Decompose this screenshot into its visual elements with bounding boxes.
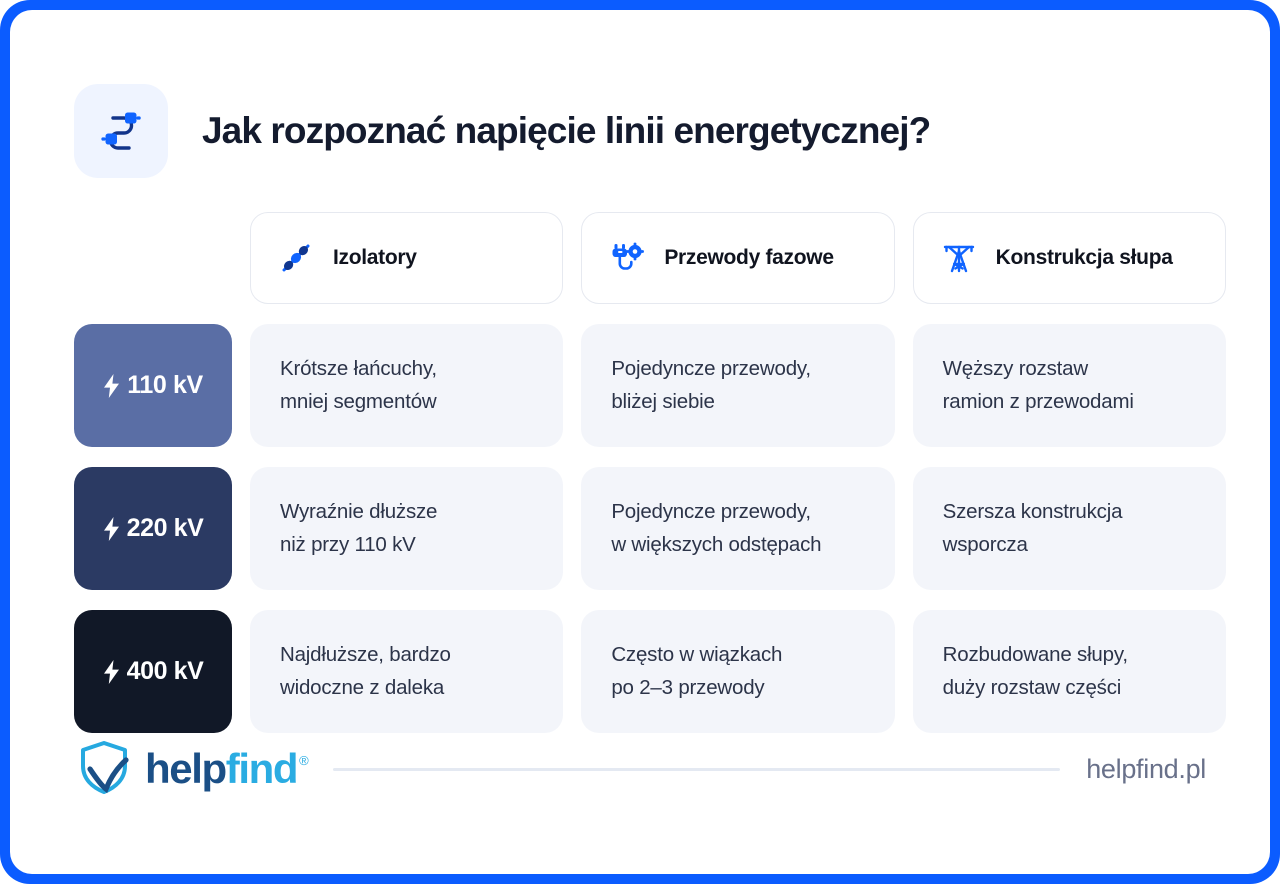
column-header-przewody-fazowe: Przewody fazowe: [581, 212, 894, 304]
voltage-row-400kv: 400 kV Najdłuższe, bardzo widoczne z dal…: [74, 610, 1226, 733]
voltage-badge-220kv: 220 kV: [74, 467, 232, 590]
table-cell: Często w wiązkach po 2–3 przewody: [581, 610, 894, 733]
cell-line-1: Szersza konstrukcja: [943, 499, 1196, 525]
lightning-bolt-icon: [103, 517, 120, 541]
helpfind-logo[interactable]: helpfind®: [74, 737, 307, 802]
logo-text-find: find: [226, 745, 297, 793]
cell-line-1: Wyraźnie dłuższe: [280, 499, 533, 525]
plug-gear-icon: [608, 239, 646, 277]
column-header-izolatory: Izolatory: [250, 212, 563, 304]
insulator-icon: [277, 239, 315, 277]
cell-line-1: Często w wiązkach: [611, 642, 864, 668]
badge-400kv-inner: 400 kV: [74, 610, 232, 733]
footer-divider: [333, 768, 1060, 771]
grid-corner-spacer: [74, 212, 232, 304]
cell-line-2: mniej segmentów: [280, 389, 533, 415]
cable-plug-icon: [96, 104, 146, 159]
shield-check-icon: [74, 737, 134, 802]
header: Jak rozpoznać napięcie linii energetyczn…: [74, 84, 930, 178]
cell-line-2: niż przy 110 kV: [280, 532, 533, 558]
cell-line-1: Pojedyncze przewody,: [611, 499, 864, 525]
cell-line-1: Krótsze łańcuchy,: [280, 356, 533, 382]
transmission-tower-icon: [940, 239, 978, 277]
column-header-konstrukcja-slupa: Konstrukcja słupa: [913, 212, 1226, 304]
column-header-label: Konstrukcja słupa: [996, 246, 1173, 270]
cell-line-1: Pojedyncze przewody,: [611, 356, 864, 382]
table-cell: Rozbudowane słupy, duży rozstaw części: [913, 610, 1226, 733]
table-cell: Wyraźnie dłuższe niż przy 110 kV: [250, 467, 563, 590]
column-header-label: Izolatory: [333, 246, 417, 270]
lightning-bolt-icon: [103, 374, 120, 398]
column-header-row: Izolatory: [74, 212, 1226, 304]
cell-line-2: po 2–3 przewody: [611, 675, 864, 701]
lightning-bolt-icon: [103, 660, 120, 684]
cell-line-2: wsporcza: [943, 532, 1196, 558]
table-cell: Pojedyncze przewody, bliżej siebie: [581, 324, 894, 447]
cell-line-2: ramion z przewodami: [943, 389, 1196, 415]
brand-mark: [74, 84, 168, 178]
badge-110kv-inner: 110 kV: [74, 324, 232, 447]
registered-mark: ®: [299, 753, 307, 768]
infographic-card: Jak rozpoznać napięcie linii energetyczn…: [10, 10, 1270, 874]
outer-frame: Jak rozpoznać napięcie linii energetyczn…: [0, 0, 1280, 884]
table-cell: Węższy rozstaw ramion z przewodami: [913, 324, 1226, 447]
table-cell: Najdłuższe, bardzo widoczne z daleka: [250, 610, 563, 733]
cell-line-1: Najdłuższe, bardzo: [280, 642, 533, 668]
voltage-badge-400kv: 400 kV: [74, 610, 232, 733]
cell-line-2: widoczne z daleka: [280, 675, 533, 701]
voltage-label: 110 kV: [127, 371, 202, 400]
table-cell: Pojedyncze przewody, w większych odstępa…: [581, 467, 894, 590]
cell-line-1: Węższy rozstaw: [943, 356, 1196, 382]
column-header-label: Przewody fazowe: [664, 246, 833, 270]
voltage-label: 400 kV: [127, 657, 204, 686]
cell-line-2: duży rozstaw części: [943, 675, 1196, 701]
voltage-row-110kv: 110 kV Krótsze łańcuchy, mniej segmentów…: [74, 324, 1226, 447]
comparison-grid: Izolatory: [74, 212, 1226, 733]
voltage-badge-110kv: 110 kV: [74, 324, 232, 447]
logo-text-help: help: [145, 745, 226, 793]
helpfind-wordmark: helpfind®: [145, 745, 307, 793]
cell-line-2: bliżej siebie: [611, 389, 864, 415]
cell-line-2: w większych odstępach: [611, 532, 864, 558]
page-title: Jak rozpoznać napięcie linii energetyczn…: [202, 110, 930, 152]
footer: helpfind® helpfind.pl: [74, 738, 1206, 800]
voltage-label: 220 kV: [127, 514, 204, 543]
badge-220kv-inner: 220 kV: [74, 467, 232, 590]
voltage-row-220kv: 220 kV Wyraźnie dłuższe niż przy 110 kV …: [74, 467, 1226, 590]
table-cell: Krótsze łańcuchy, mniej segmentów: [250, 324, 563, 447]
table-cell: Szersza konstrukcja wsporcza: [913, 467, 1226, 590]
footer-url: helpfind.pl: [1086, 754, 1206, 785]
cell-line-1: Rozbudowane słupy,: [943, 642, 1196, 668]
